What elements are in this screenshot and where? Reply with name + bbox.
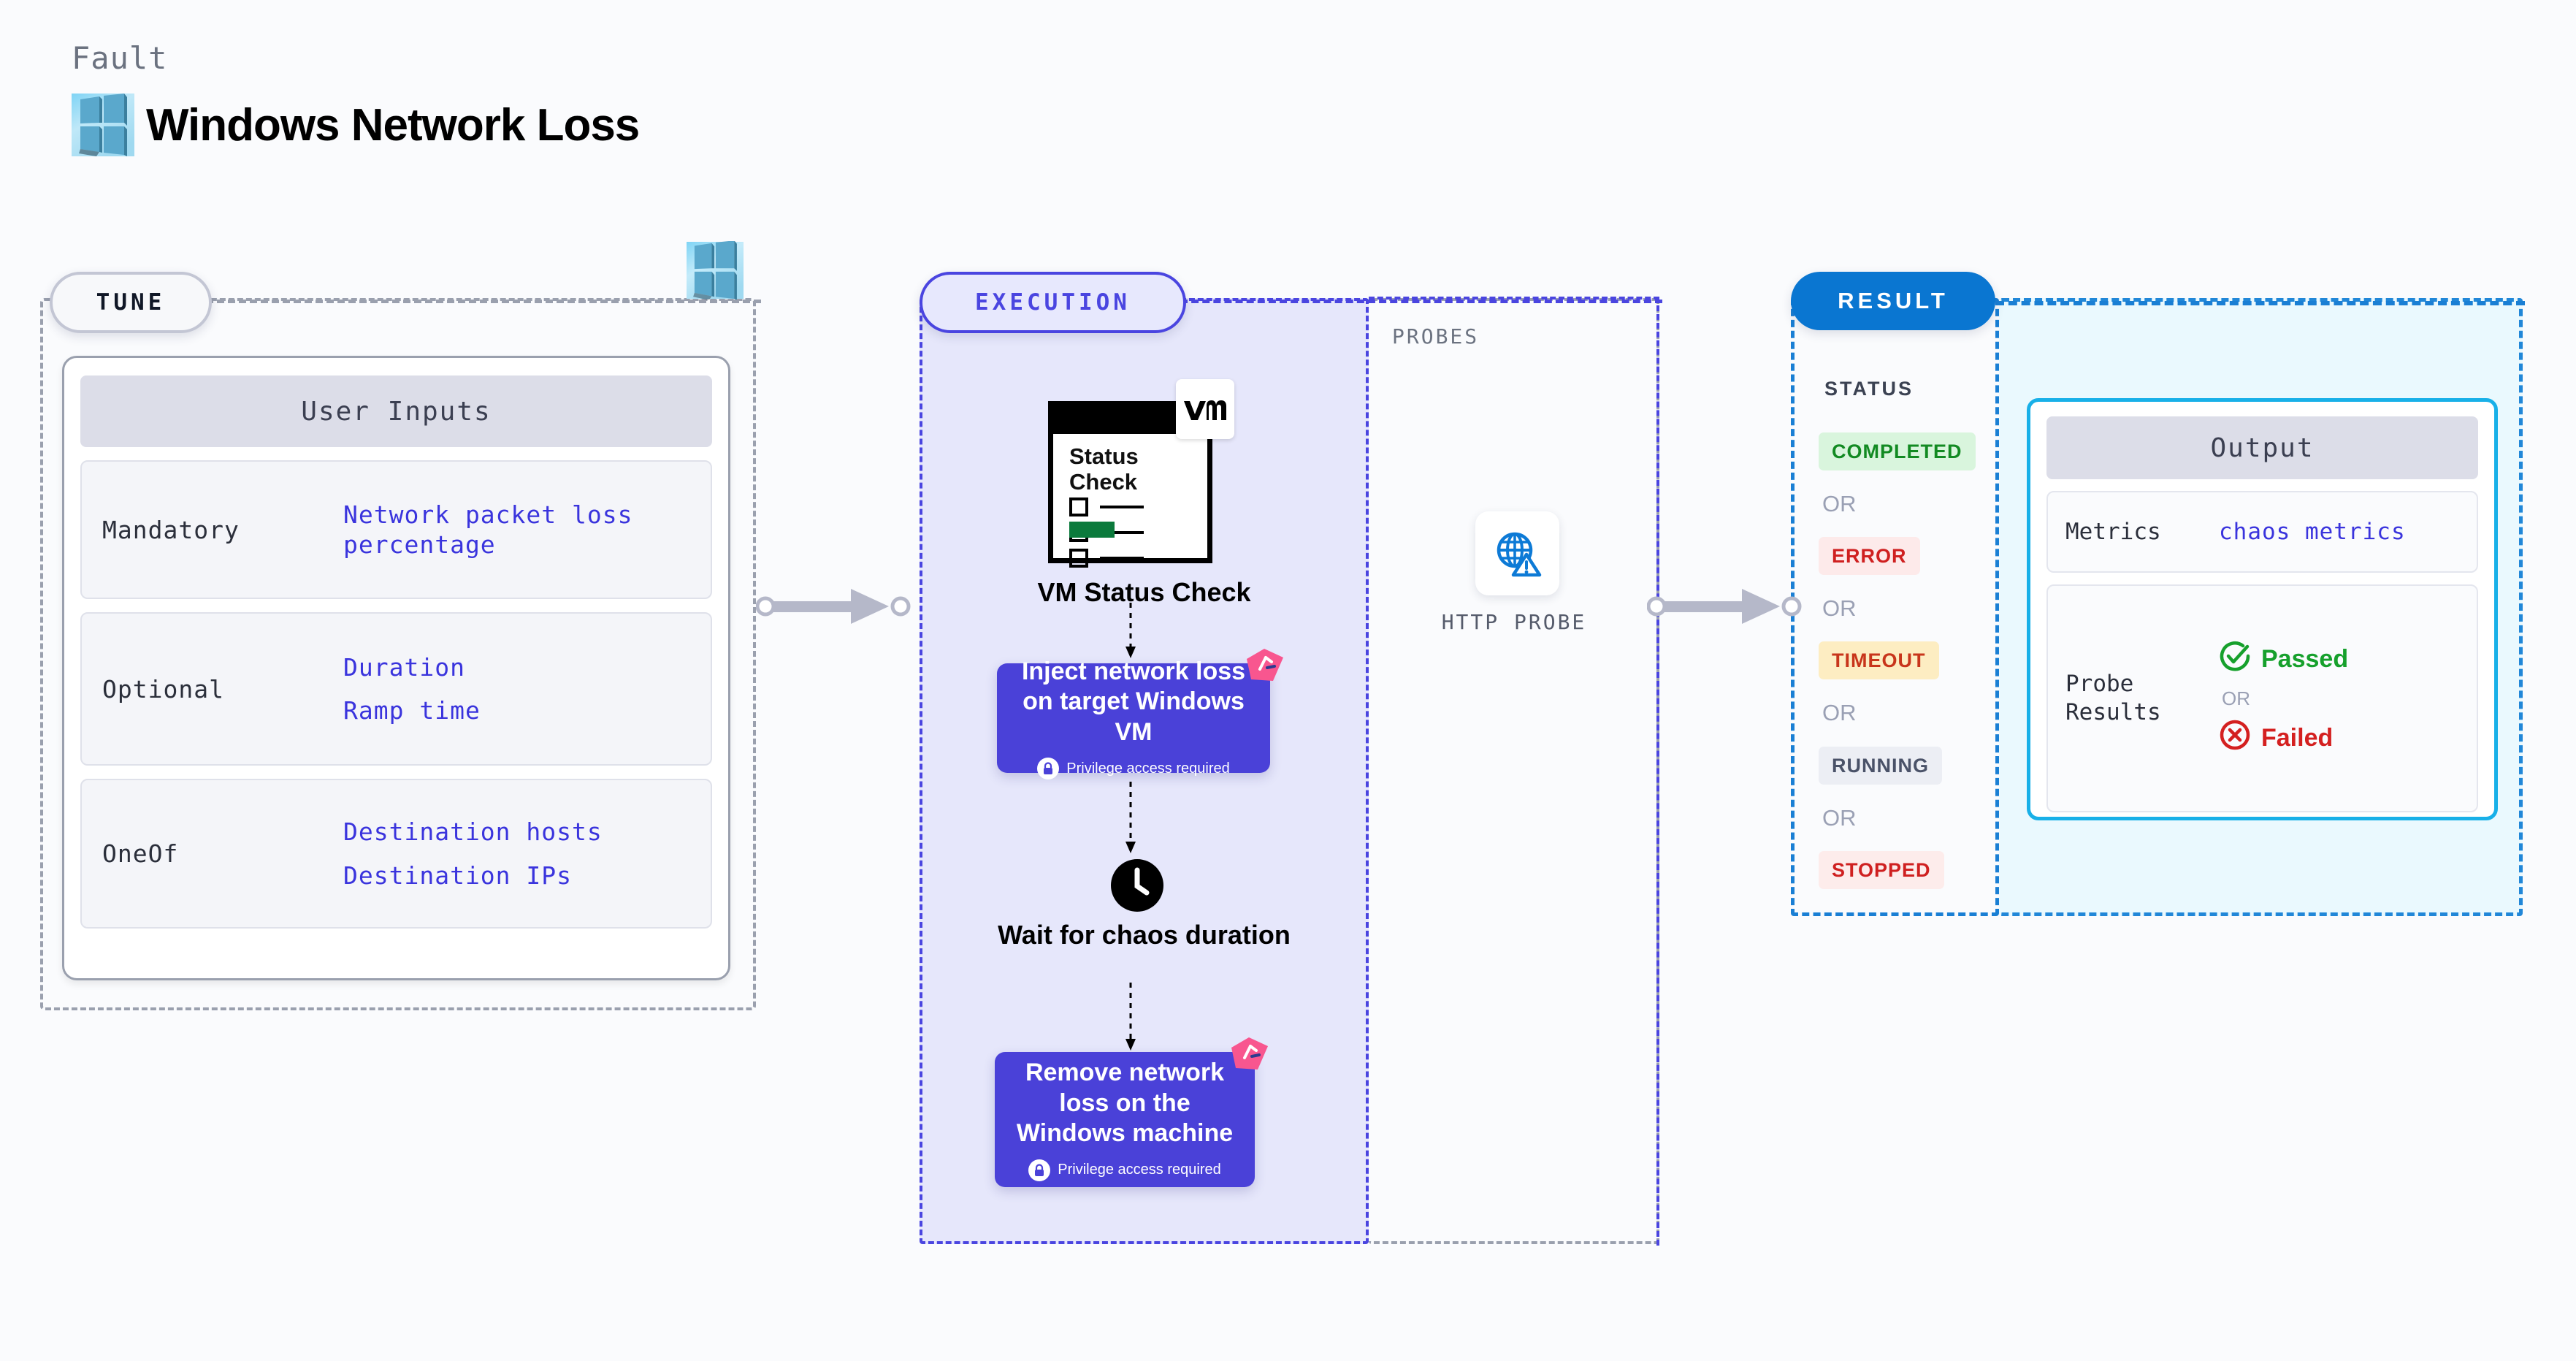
vm-logo-icon [1176, 379, 1234, 439]
probes-section-label: PROBES [1392, 324, 1479, 348]
tune-connector-line [206, 300, 761, 303]
lock-icon [1028, 1159, 1050, 1181]
status-badge-completed: COMPLETED [1819, 432, 1976, 470]
metrics-label: Metrics [2065, 518, 2219, 546]
input-value[interactable]: Ramp time [343, 695, 481, 725]
status-section-label: STATUS [1824, 378, 1914, 400]
flow-connector-arrow [1123, 603, 1138, 663]
flow-connector-arrow [1123, 983, 1138, 1056]
vm-checklist-item [1069, 549, 1144, 568]
privilege-note-text: Privilege access required [1058, 1162, 1220, 1178]
vm-status-check-label: VM Status Check [920, 577, 1369, 608]
probe-result-failed: Failed [2219, 719, 2348, 758]
or-separator: OR [1822, 805, 1857, 831]
vm-status-check-icon: Status Check [1048, 392, 1220, 564]
globe-warning-icon[interactable] [1475, 511, 1559, 595]
http-probe-label: HTTP PROBE [1369, 610, 1659, 634]
output-row-probe-results: Probe Results Passed OR [2046, 584, 2478, 812]
input-value[interactable]: Network packet loss percentage [343, 500, 695, 560]
result-section-pill[interactable]: RESULT [1791, 272, 1995, 330]
windows-logo-icon [687, 241, 744, 303]
flow-connector-arrow [1123, 782, 1138, 858]
input-value[interactable]: Duration [343, 652, 481, 682]
input-value[interactable]: Destination hosts [343, 817, 603, 847]
output-card: Output Metrics chaos metrics Probe Resul… [2027, 398, 2498, 820]
litmus-logo-icon [1244, 647, 1285, 684]
or-separator: OR [1822, 491, 1857, 517]
flow-arrow-probes-to-result [1647, 584, 1813, 632]
privilege-note-text: Privilege access required [1066, 760, 1229, 777]
vm-checklist-item [1069, 497, 1144, 516]
vm-status-icon-title: Status Check [1069, 444, 1207, 495]
x-circle-icon [2219, 719, 2251, 758]
windows-logo-icon [72, 94, 134, 156]
checkbox-icon [1069, 497, 1088, 516]
litmus-logo-icon [1228, 1036, 1269, 1072]
fault-kicker-label: Fault [72, 40, 167, 76]
status-badge-timeout: TIMEOUT [1819, 641, 1939, 679]
clock-icon [1110, 858, 1164, 912]
execution-connector-line [1180, 300, 1662, 303]
fault-title-row: Windows Network Loss [72, 94, 639, 156]
user-inputs-card: User Inputs Mandatory Network packet los… [62, 356, 730, 980]
tune-section-pill[interactable]: TUNE [50, 272, 212, 333]
metrics-value[interactable]: chaos metrics [2219, 519, 2406, 545]
lock-icon [1037, 758, 1059, 779]
privilege-note: Privilege access required [1037, 758, 1229, 779]
vm-progress-bar [1069, 522, 1115, 538]
result-connector-line [1995, 301, 2525, 305]
or-separator: OR [1822, 700, 1857, 726]
chaos-step-title: Inject network loss on target Windows VM [997, 657, 1270, 747]
status-badge-stopped: STOPPED [1819, 851, 1944, 889]
probe-failed-text: Failed [2261, 724, 2333, 752]
execution-section-pill[interactable]: EXECUTION [920, 272, 1186, 333]
user-inputs-title: User Inputs [80, 375, 712, 447]
flow-arrow-tune-to-execution [756, 584, 922, 632]
input-row-label: Optional [102, 675, 343, 704]
page-title: Windows Network Loss [146, 99, 639, 151]
check-circle-icon [2219, 640, 2251, 679]
probe-results-label: Probe Results [2065, 670, 2219, 727]
or-separator: OR [1822, 595, 1857, 622]
output-row-metrics: Metrics chaos metrics [2046, 491, 2478, 573]
line-icon [1100, 506, 1144, 508]
status-badge-error: ERROR [1819, 537, 1920, 575]
probes-region [1369, 298, 1659, 1244]
checkbox-icon [1069, 549, 1088, 568]
privilege-note: Privilege access required [1028, 1159, 1220, 1181]
probes-region-right-border [1656, 297, 1659, 1246]
input-row-oneof: OneOf Destination hosts Destination IPs [80, 779, 712, 929]
line-icon [1100, 557, 1144, 560]
or-separator: OR [2219, 687, 2348, 710]
input-value[interactable]: Destination IPs [343, 861, 603, 891]
input-row-optional: Optional Duration Ramp time [80, 612, 712, 766]
probe-result-passed: Passed [2219, 640, 2348, 679]
input-row-mandatory: Mandatory Network packet loss percentage [80, 460, 712, 599]
status-badge-running: RUNNING [1819, 747, 1942, 785]
chaos-step-inject-network-loss[interactable]: Inject network loss on target Windows VM… [997, 663, 1270, 773]
chaos-step-title: Remove network loss on the Windows machi… [995, 1058, 1255, 1148]
chaos-step-remove-network-loss[interactable]: Remove network loss on the Windows machi… [995, 1052, 1255, 1187]
wait-step-label: Wait for chaos duration [920, 919, 1369, 950]
input-row-label: Mandatory [102, 516, 343, 544]
input-row-label: OneOf [102, 839, 343, 868]
output-card-title: Output [2046, 416, 2478, 479]
probe-passed-text: Passed [2261, 645, 2348, 674]
